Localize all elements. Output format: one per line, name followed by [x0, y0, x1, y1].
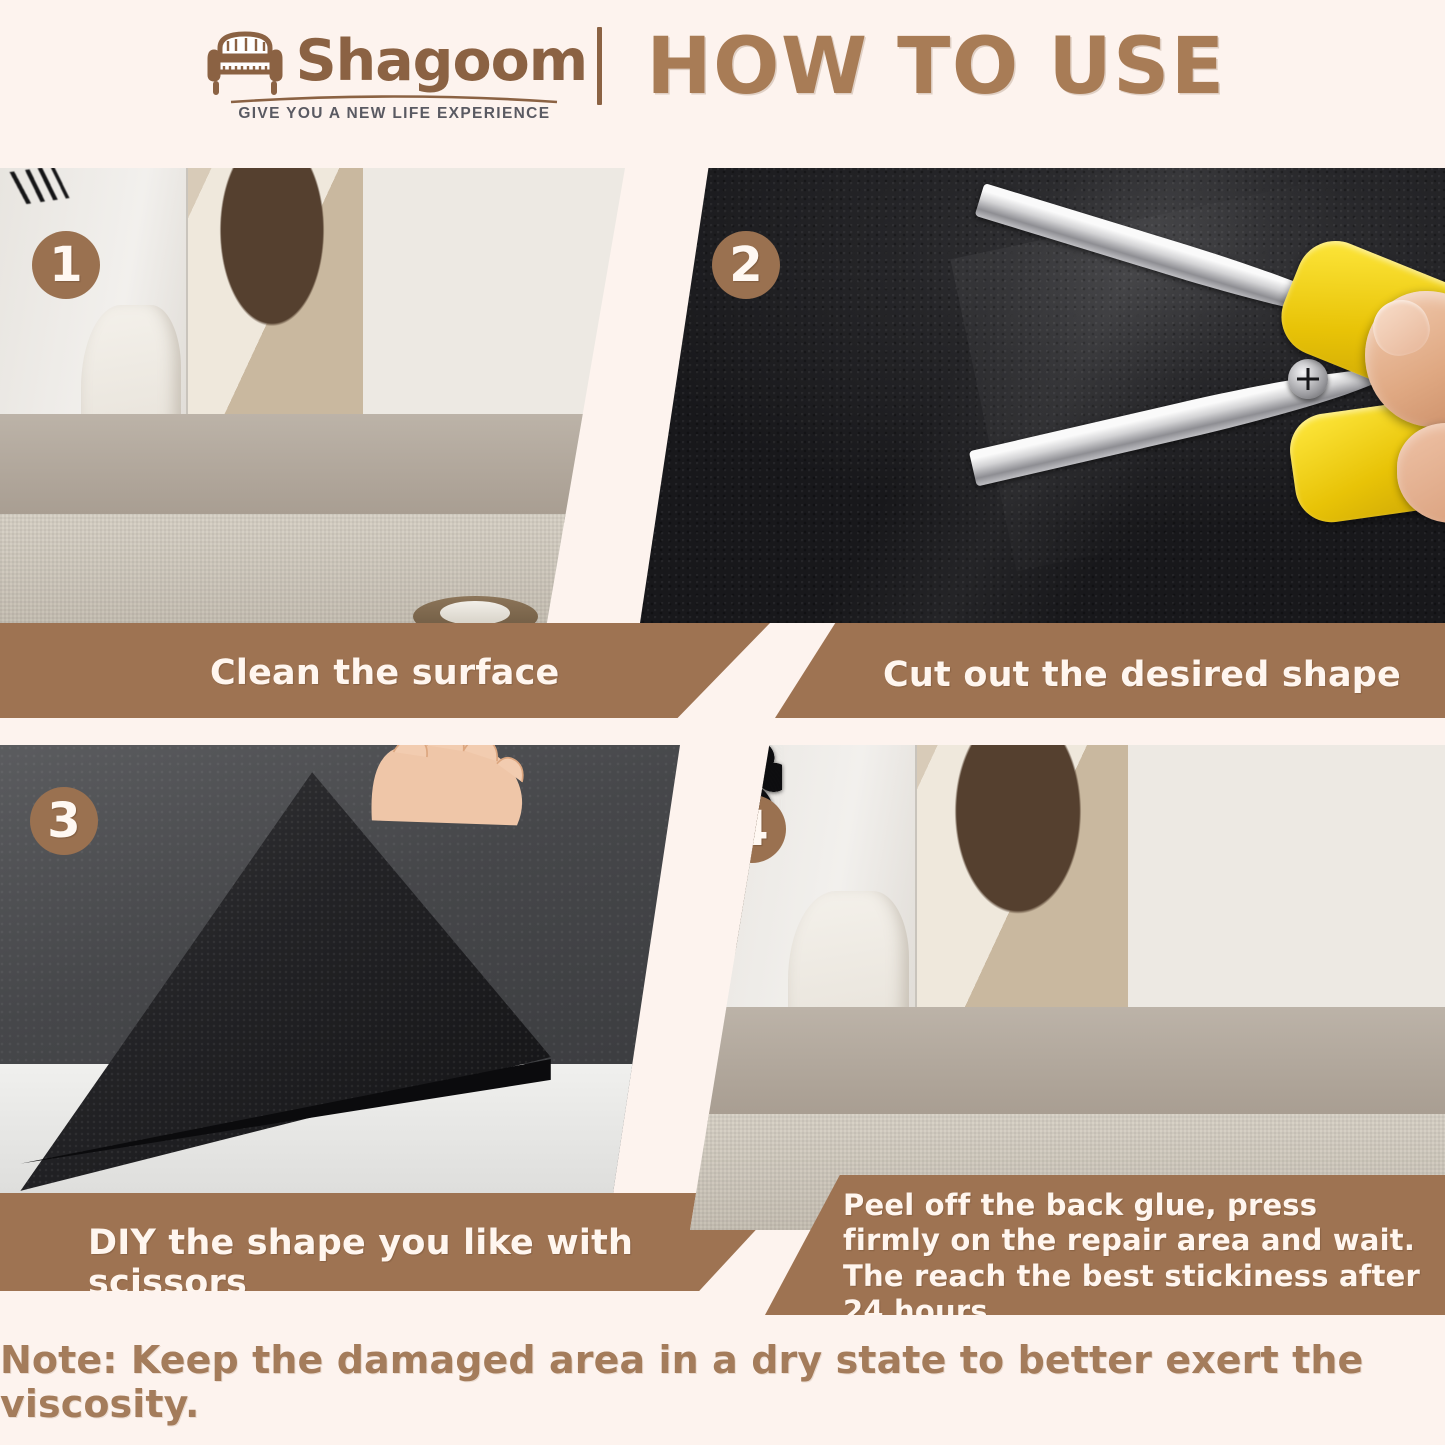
step-3-badge: 3 [30, 787, 98, 855]
scissors-pivot-screw [1288, 359, 1328, 399]
brand-name: Shagoom [296, 33, 588, 90]
step-4-caption: Peel off the back glue, press firmly on … [843, 1188, 1445, 1315]
step-3-image: 3 [0, 745, 680, 1200]
brand-logo-block: Shagoom GIVE YOU A NEW LIFE EXPERIENCE [219, 22, 569, 123]
header-divider [597, 27, 602, 105]
steps-grid: 1 Clean the surface 2 Cut out the desire… [0, 145, 1445, 1330]
page-header: Shagoom GIVE YOU A NEW LIFE EXPERIENCE H… [0, 0, 1445, 145]
step-4-image: 4 [690, 745, 1445, 1230]
hand-holding-patch [333, 745, 564, 827]
note-row: Note: Keep the damaged area in a dry sta… [0, 1332, 1445, 1432]
step-1-photo [0, 168, 625, 623]
step-2-badge: 2 [712, 231, 780, 299]
step-4-photo [690, 745, 1445, 1230]
living-room-scene-repaired [690, 745, 1445, 1230]
page-title: HOW TO USE [646, 28, 1225, 106]
brand-tagline: GIVE YOU A NEW LIFE EXPERIENCE [238, 105, 550, 123]
step-1-caption: Clean the surface [210, 653, 559, 693]
note-text: Note: Keep the damaged area in a dry sta… [0, 1338, 1445, 1426]
floor [0, 414, 625, 523]
living-room-scene [0, 168, 625, 623]
step-3-caption-bar: DIY the shape you like with scissors [0, 1193, 790, 1291]
step-2-caption: Cut out the desired shape [883, 655, 1401, 695]
step-3-photo [0, 745, 680, 1200]
step-3-caption: DIY the shape you like with scissors [88, 1223, 790, 1291]
brand-swoosh-divider [229, 94, 559, 104]
step-1-caption-bar: Clean the surface [0, 623, 770, 718]
brand-row: Shagoom [202, 22, 588, 96]
floor [690, 1007, 1445, 1123]
step-2-image: 2 [640, 168, 1445, 623]
sofa-logo-icon [202, 22, 288, 96]
step-1-image: 1 [0, 168, 625, 623]
step-1-badge: 1 [32, 231, 100, 299]
step-2-caption-bar: Cut out the desired shape [775, 623, 1445, 718]
step-4-caption-bar: Peel off the back glue, press firmly on … [765, 1175, 1445, 1315]
step-4-badge: 4 [718, 795, 786, 863]
